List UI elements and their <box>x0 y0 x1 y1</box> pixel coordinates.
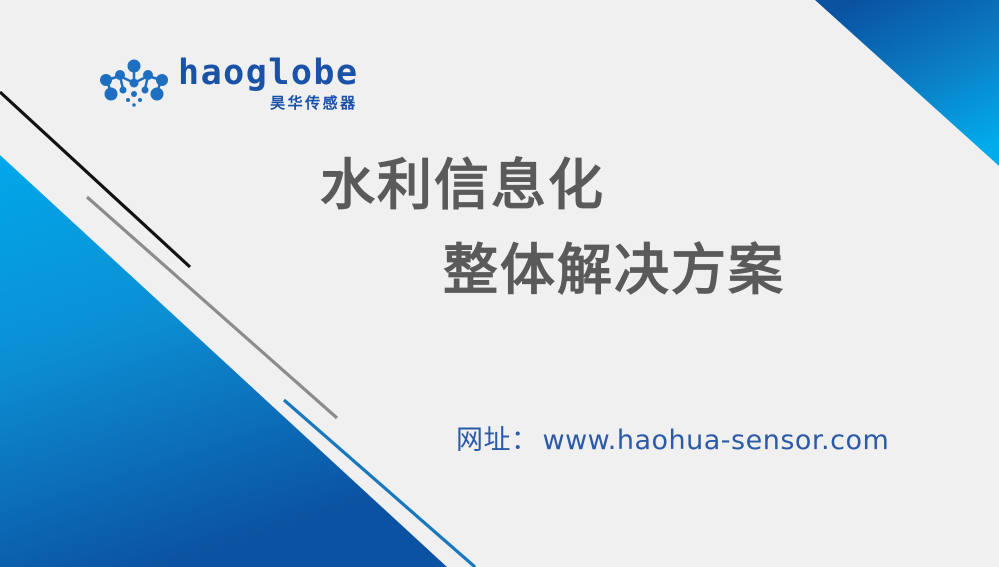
website-line: 网址： www.haohua-sensor.com <box>456 418 889 457</box>
presentation-title-slide: haoglobe 昊华传感器 水利信息化 整体解决方案 网址： www.haoh… <box>0 0 999 567</box>
network-nodes-logo-icon <box>96 56 172 112</box>
website-url[interactable]: www.haohua-sensor.com <box>543 425 890 456</box>
slide-title-line-1: 水利信息化 <box>0 158 999 213</box>
logo-text-block: haoglobe 昊华传感器 <box>178 57 359 110</box>
company-logo[interactable]: haoglobe 昊华传感器 <box>96 56 359 112</box>
website-label: 网址： <box>456 418 539 457</box>
slide-title-line-2: 整体解决方案 <box>0 243 999 298</box>
slide-title: 水利信息化 整体解决方案 <box>0 158 999 298</box>
logo-wordmark: haoglobe <box>178 57 359 90</box>
logo-chinese-name: 昊华传感器 <box>270 96 358 111</box>
top-right-blue-triangle <box>815 0 999 166</box>
